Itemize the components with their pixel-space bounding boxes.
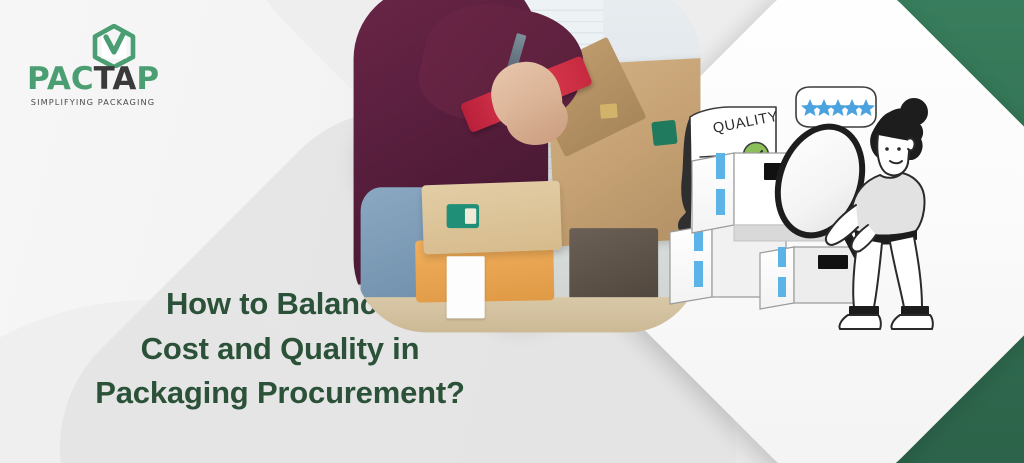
photo-parcel-label (447, 204, 478, 228)
page-title-line-2: Cost and Quality in (40, 327, 520, 372)
hero-photo-frame: Warehouse worker in maroon sweater writi… (337, 0, 716, 349)
brand-tagline: SIMPLIFYING PACKAGING (18, 97, 168, 107)
brand-wordmark: PACTAP (18, 64, 168, 95)
brand-wordmark-part2: TA (94, 61, 137, 97)
photo-kraft-parcel (422, 181, 563, 255)
page-title-line-3: Packaging Procurement? (40, 371, 520, 416)
hero-photo: Warehouse worker in maroon sweater writi… (354, 0, 701, 332)
brand-logo[interactable]: PACTAP SIMPLIFYING PACKAGING (18, 24, 168, 106)
brand-wordmark-part1: PAC (27, 61, 94, 97)
banner-root: PACTAP SIMPLIFYING PACKAGING How to Bala… (0, 0, 1024, 463)
quality-inspection-illustration: QUALITY (668, 85, 938, 345)
hero-photo-scene (354, 0, 701, 332)
brand-wordmark-part3: P (136, 61, 159, 97)
photo-table (354, 298, 701, 333)
photo-shipping-label (447, 256, 485, 318)
photo-yellow-tape (599, 103, 617, 118)
